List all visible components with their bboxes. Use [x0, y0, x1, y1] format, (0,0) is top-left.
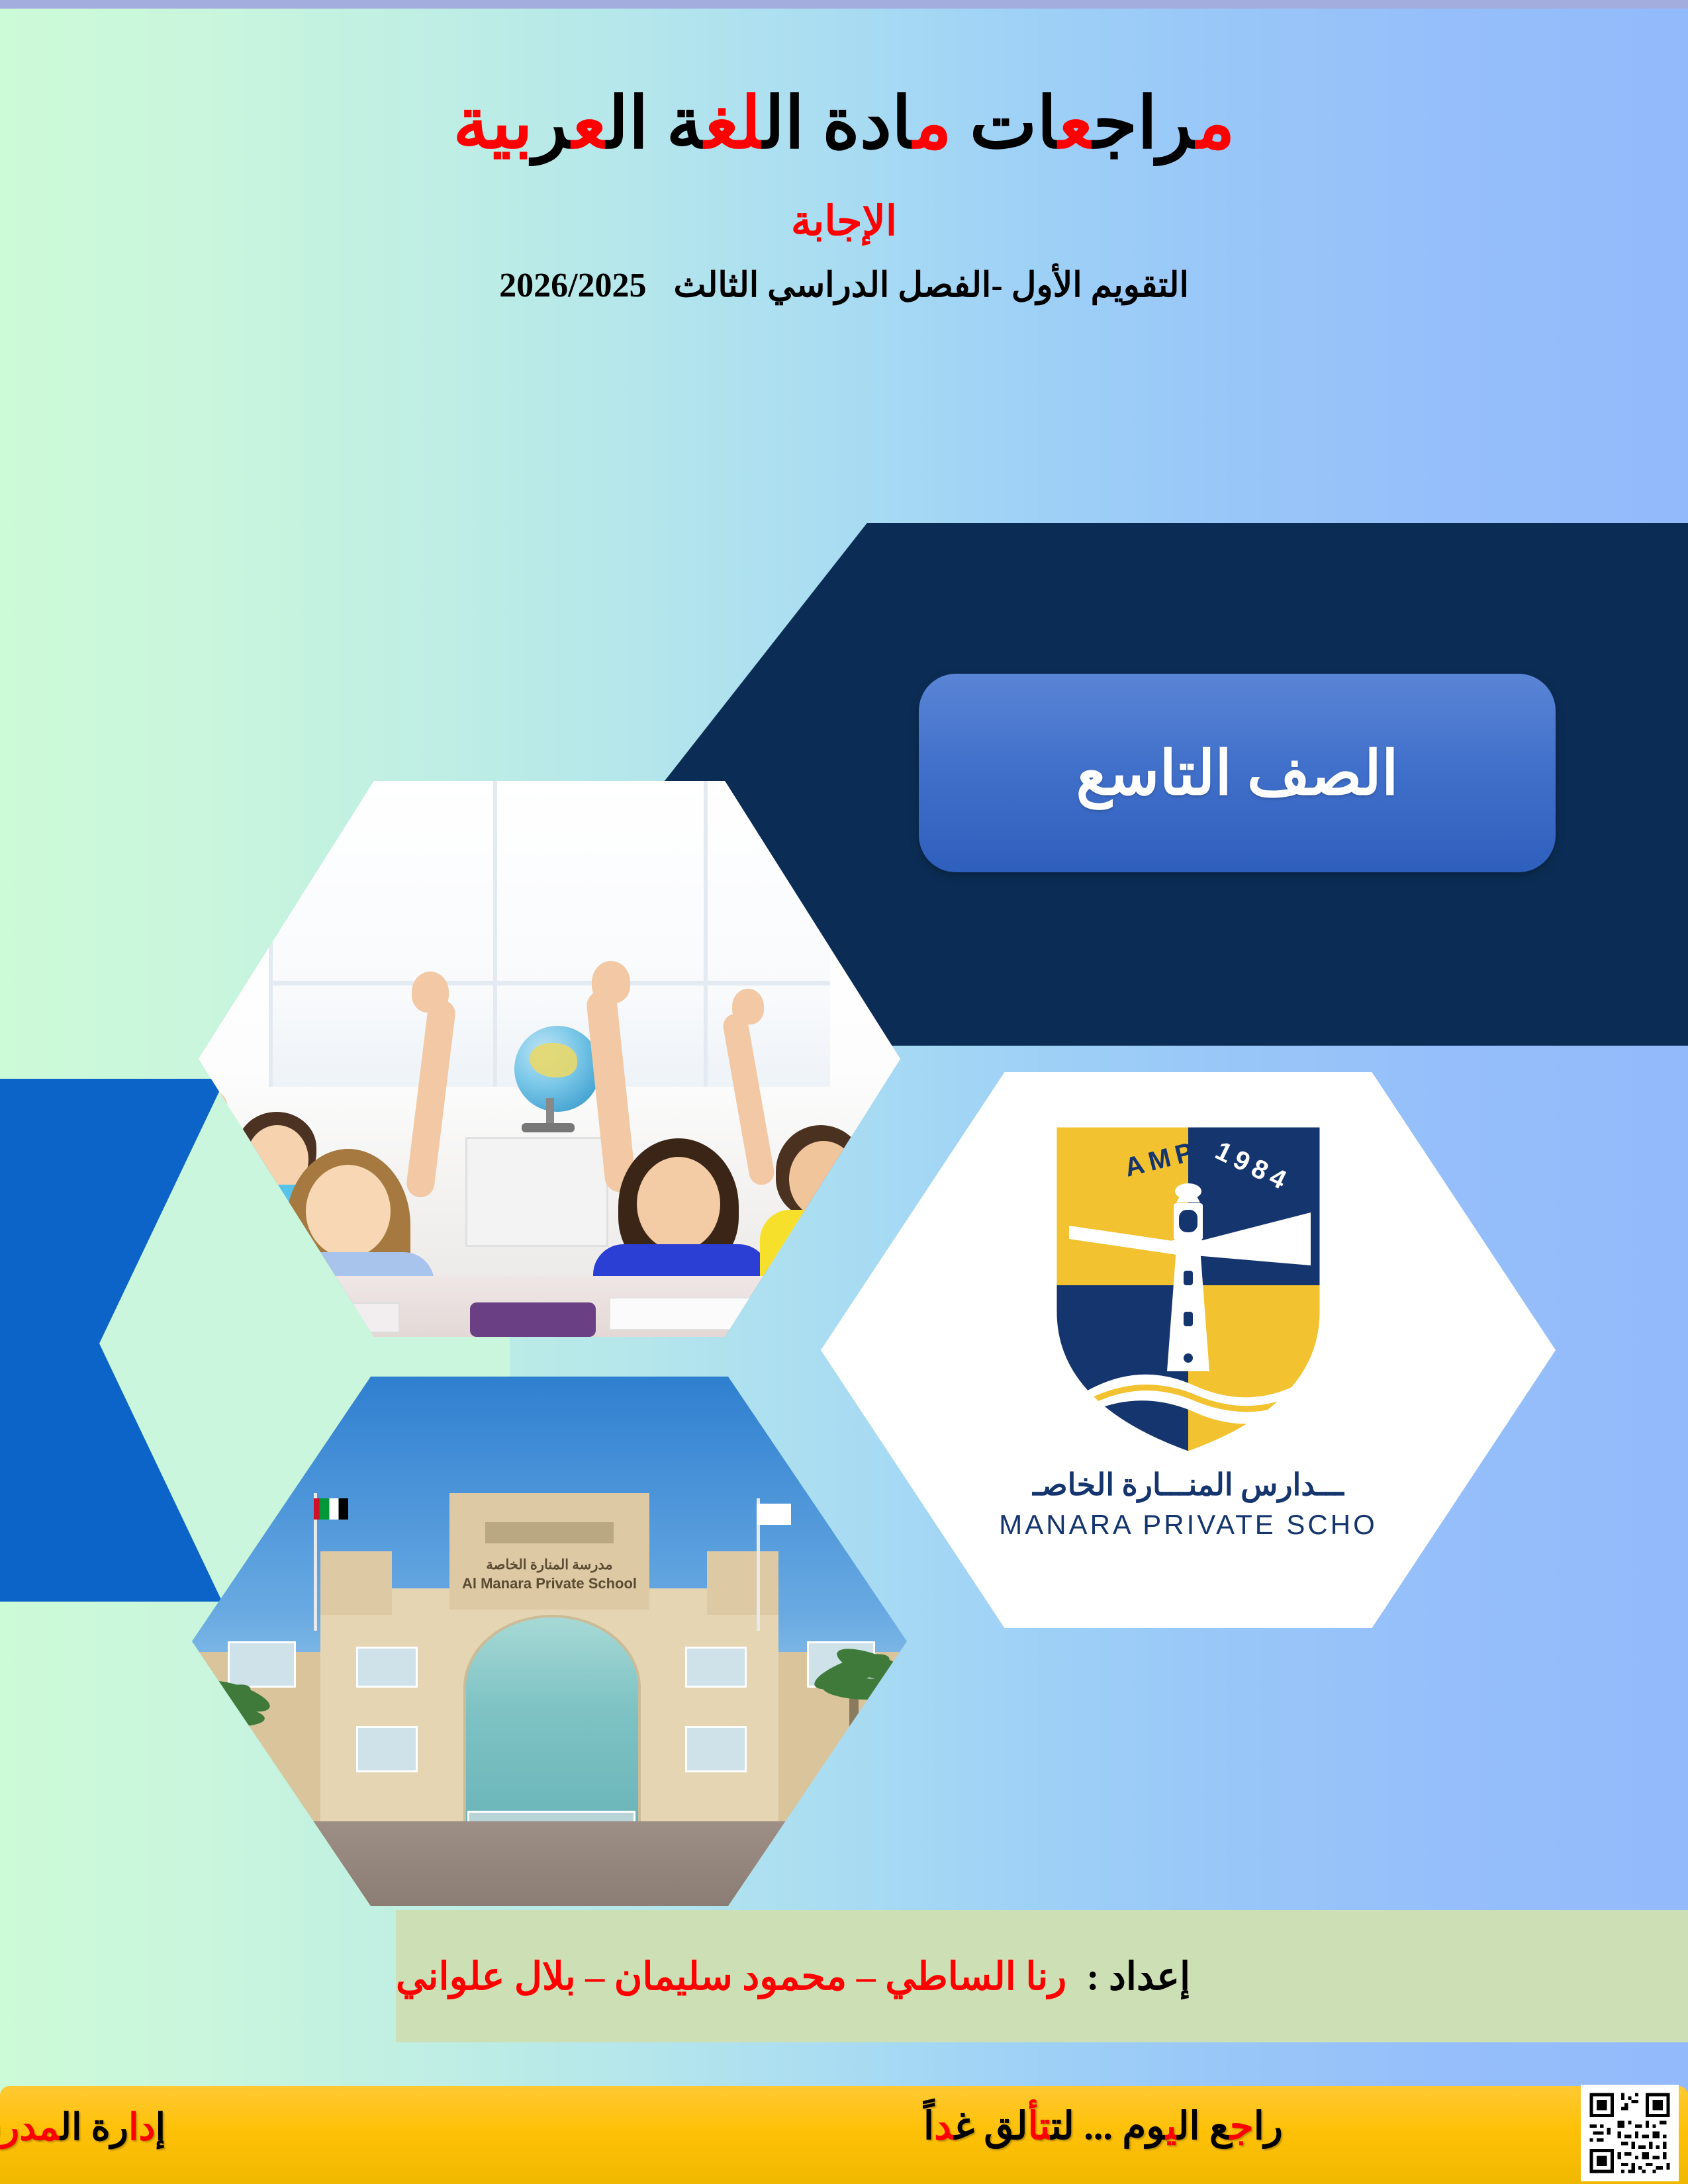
colored-run: لغ: [704, 85, 763, 163]
building-sign-english: Al Manara Private School: [462, 1575, 637, 1592]
building-turret-left: [320, 1551, 392, 1615]
student-head: [789, 1141, 858, 1218]
colored-run: د: [934, 2105, 954, 2148]
colored-run: دا: [128, 2107, 156, 2148]
school-logo-hexagon: AMPS 1984 ـــدارس المنـــارة الخاصـ MANA…: [821, 1072, 1556, 1628]
pencil-case: [470, 1302, 596, 1337]
palm-trunk: [214, 1713, 224, 1825]
uae-flag: [314, 1498, 348, 1520]
colored-run: بية: [453, 85, 533, 163]
white-cabinet: [465, 1137, 608, 1247]
colored-run: ة ال: [607, 85, 705, 163]
student-head: [306, 1165, 391, 1257]
colored-run: وم ... لت: [1051, 2105, 1166, 2148]
grade-badge: الصف التاسع: [919, 674, 1556, 872]
student-hand: [412, 972, 449, 1013]
palm-trunk: [849, 1688, 859, 1813]
open-book: [609, 1297, 757, 1330]
colored-run: ات: [952, 85, 1059, 163]
building-sign-arabic: مدرسة المنارة الخاصة: [486, 1557, 612, 1573]
colored-run: راج: [1093, 85, 1196, 163]
credits-bar: إعداد : رنا الساطي – محمود سليمان – بلال…: [396, 1910, 1688, 2042]
globe: [514, 1026, 600, 1112]
window: [685, 1647, 746, 1688]
colored-run: ع ال: [1178, 2105, 1230, 2148]
forecourt-ground: [192, 1821, 907, 1906]
credits-label: إعداد :: [1086, 1954, 1190, 1999]
window: [356, 1647, 417, 1688]
logo-arabic-name: ـــدارس المنـــارة الخاصـ: [1033, 1467, 1344, 1502]
page-title: مراجعات مادة اللغة العربية: [0, 79, 1688, 169]
window-mullion: [493, 781, 497, 1087]
colored-run: را: [1254, 2105, 1283, 2148]
term-text: التقويم الأول -الفصل الدراسي الثالث: [674, 267, 1189, 304]
top-accent-strip: [0, 0, 1688, 9]
window: [356, 1726, 417, 1772]
colored-run: م: [914, 85, 952, 163]
footer-school-admin: إدارة المدرسة: [0, 2106, 165, 2149]
tower-vent-band: [485, 1522, 614, 1543]
window: [685, 1726, 746, 1772]
colored-run: م: [1197, 85, 1235, 163]
student-head: [637, 1157, 720, 1251]
colored-run: لق غ: [955, 2105, 1028, 2148]
shield-svg: AMPS 1984: [1049, 1113, 1327, 1457]
colored-run: رة ال: [60, 2107, 128, 2148]
logo-english-name: MANARA PRIVATE SCHO: [999, 1509, 1378, 1541]
footer-slogan: راجع اليوم ... لتتألق غداً: [923, 2103, 1283, 2148]
credits-names: رنا الساطي – محمود سليمان – بلال علواني: [396, 1954, 1066, 1999]
building-turret-right: [707, 1551, 778, 1615]
answer-label: الإجابة: [0, 197, 1688, 246]
colored-run: مدر: [1, 2107, 60, 2148]
footer-bar: إدارة المدرسة راجع اليوم ... لتتألق غداً: [0, 2086, 1688, 2184]
window-mullion: [269, 781, 273, 1087]
window-mullion: [269, 981, 830, 985]
window: [228, 1641, 296, 1688]
student-hand: [732, 989, 764, 1024]
colored-run: تأ: [1027, 2105, 1051, 2148]
amps-shield-logo: AMPS 1984: [1049, 1113, 1327, 1457]
colored-run: ادة ال: [763, 85, 914, 163]
grade-badge-label: الصف التاسع: [1076, 738, 1398, 809]
colored-run: ع: [573, 85, 607, 163]
student-hand: [592, 961, 630, 1003]
window-mullion: [704, 781, 708, 1087]
colored-run: ج: [1230, 2105, 1254, 2148]
term-line: التقويم الأول -الفصل الدراسي الثالث 2026…: [0, 265, 1688, 305]
colored-run: إ: [155, 2107, 165, 2148]
title-block: مراجعات مادة اللغة العربية الإجابة التقو…: [0, 79, 1688, 305]
colored-run: ر: [533, 85, 573, 163]
colored-run: ي: [1166, 2105, 1178, 2148]
colored-run: اً: [923, 2105, 934, 2148]
colored-run: ع: [1058, 85, 1093, 163]
entrance-arch-glass: [463, 1615, 640, 1843]
academic-year: 2026/2025: [499, 266, 646, 305]
qr-code-svg: [1585, 2089, 1674, 2177]
school-flag: [757, 1504, 791, 1525]
qr-code[interactable]: [1581, 2085, 1679, 2181]
globe-base: [522, 1123, 575, 1132]
